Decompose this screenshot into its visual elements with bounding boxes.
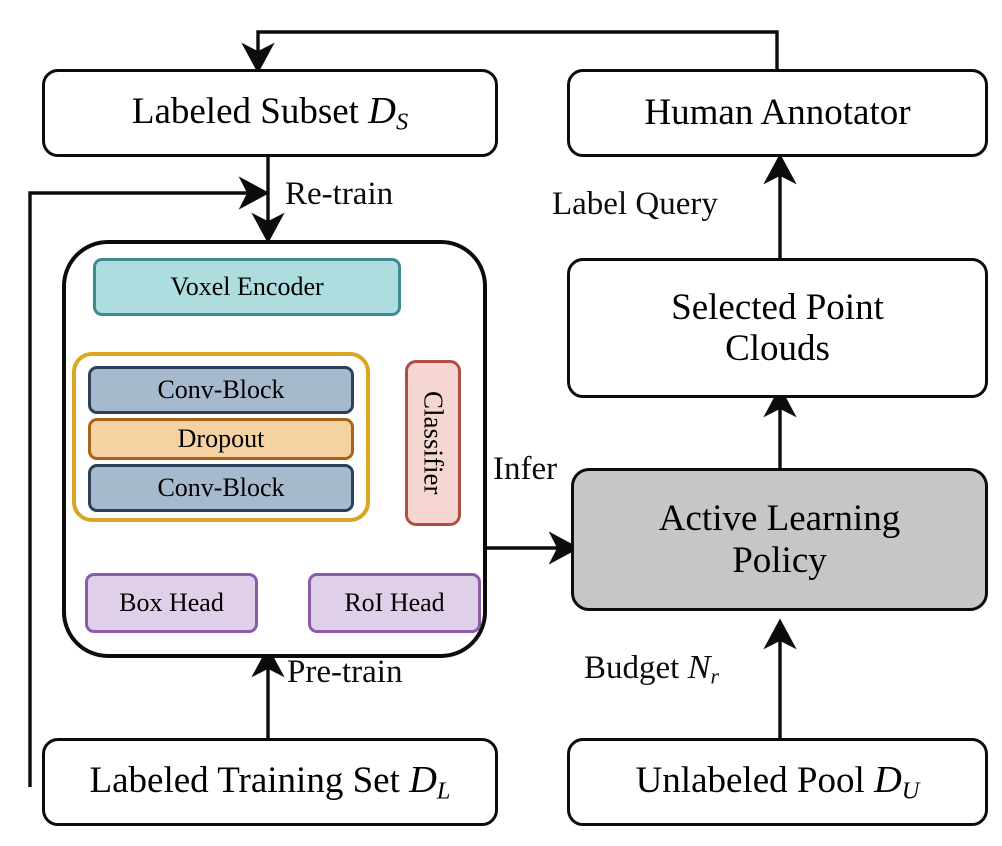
block-box-head[interactable]: Box Head	[85, 573, 258, 633]
node-selected-point-clouds-label: Selected Point Clouds	[665, 287, 890, 370]
block-conv-block-2-label: Conv-Block	[157, 473, 284, 503]
block-box-head-label: Box Head	[119, 588, 224, 618]
edge-label-budget: Budget Nr	[584, 650, 719, 688]
policy-line-1: Active Learning	[659, 498, 900, 539]
node-human-annotator-label: Human Annotator	[638, 94, 916, 133]
block-conv-block-1-label: Conv-Block	[157, 375, 284, 405]
block-conv-block-1[interactable]: Conv-Block	[88, 366, 354, 414]
edge-label-label-query: Label Query	[552, 188, 718, 221]
block-conv-block-2[interactable]: Conv-Block	[88, 464, 354, 512]
edge-label-pretrain: Pre-train	[287, 656, 402, 689]
node-unlabeled-pool-label: Unlabeled Pool DU	[630, 760, 926, 804]
diagram-canvas: Labeled Subset DS Human Annotator Select…	[0, 0, 1002, 846]
node-labeled-training-set[interactable]: Labeled Training Set DL	[42, 738, 498, 826]
block-dropout-label: Dropout	[178, 424, 265, 454]
symbol-ds: D	[368, 90, 396, 132]
block-roi-head[interactable]: RoI Head	[308, 573, 481, 633]
block-roi-head-label: RoI Head	[344, 588, 444, 618]
block-voxel-encoder[interactable]: Voxel Encoder	[93, 258, 401, 316]
symbol-du: D	[874, 759, 902, 801]
policy-line-2: Policy	[732, 540, 827, 581]
node-labeled-training-set-label: Labeled Training Set DL	[84, 760, 457, 804]
node-unlabeled-pool[interactable]: Unlabeled Pool DU	[567, 738, 988, 826]
node-active-learning-policy-label: Active Learning Policy	[653, 498, 906, 581]
selected-line-1: Selected Point	[671, 287, 884, 328]
node-labeled-subset[interactable]: Labeled Subset DS	[42, 69, 498, 157]
block-voxel-encoder-label: Voxel Encoder	[170, 272, 323, 302]
node-active-learning-policy[interactable]: Active Learning Policy	[571, 468, 988, 611]
symbol-dl: D	[409, 759, 437, 801]
node-selected-point-clouds[interactable]: Selected Point Clouds	[567, 258, 988, 398]
edge-label-retrain: Re-train	[285, 178, 393, 211]
symbol-nr: N	[688, 648, 711, 686]
block-classifier[interactable]: Classifier	[405, 360, 461, 526]
edge-annotator-to-subset	[258, 32, 777, 70]
node-labeled-subset-label: Labeled Subset DS	[126, 91, 414, 135]
edge-label-infer: Infer	[493, 453, 557, 486]
block-dropout[interactable]: Dropout	[88, 418, 354, 460]
block-classifier-label: Classifier	[418, 391, 449, 494]
selected-line-2: Clouds	[725, 328, 830, 369]
node-human-annotator[interactable]: Human Annotator	[567, 69, 988, 157]
